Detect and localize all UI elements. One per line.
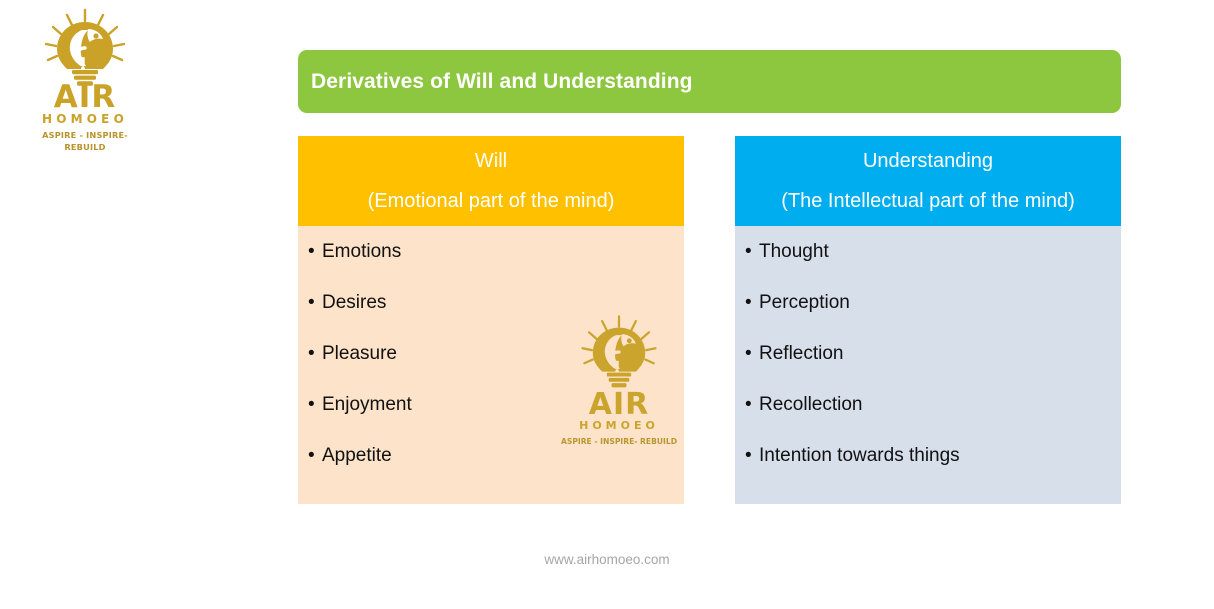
page-title: Derivatives of Will and Understanding: [298, 70, 693, 94]
list-item: • Appetite: [308, 445, 684, 496]
column-will-subheading: (Emotional part of the mind): [368, 188, 615, 215]
list-item: • Enjoyment: [308, 394, 684, 445]
list-item: • Recollection: [745, 394, 1121, 445]
list-item-label: Intention towards things: [759, 445, 960, 467]
list-item: • Intention towards things: [745, 445, 1121, 496]
bullet-icon: •: [308, 344, 322, 363]
column-will-heading: Will: [475, 148, 507, 175]
list-item: • Perception: [745, 292, 1121, 343]
column-will-body: AIR HOMOEO ASPIRE - INSPIRE- REBUILD • E…: [298, 226, 684, 504]
bullet-icon: •: [745, 242, 759, 261]
brand-tagline: ASPIRE - INSPIRE- REBUILD: [22, 129, 148, 153]
bullet-icon: •: [308, 242, 322, 261]
lightbulb-face-icon: [22, 8, 148, 88]
brand-name: AIR: [22, 84, 148, 110]
column-will: Will (Emotional part of the mind): [298, 136, 684, 504]
column-understanding-subheading: (The Intellectual part of the mind): [781, 188, 1074, 215]
column-will-header: Will (Emotional part of the mind): [298, 136, 684, 226]
list-item-label: Appetite: [322, 445, 392, 467]
footer-url[interactable]: www.airhomoeo.com: [0, 552, 1214, 567]
list-item: • Emotions: [308, 241, 684, 292]
bullet-icon: •: [308, 293, 322, 312]
bullet-icon: •: [745, 293, 759, 312]
comparison-columns: Will (Emotional part of the mind): [298, 136, 1121, 504]
column-understanding-heading: Understanding: [863, 148, 993, 175]
bullet-icon: •: [308, 446, 322, 465]
list-item: • Pleasure: [308, 343, 684, 394]
list-item-label: Perception: [759, 292, 850, 314]
list-item-label: Enjoyment: [322, 394, 412, 416]
list-item-label: Recollection: [759, 394, 863, 416]
brand-subname: HOMOEO: [22, 111, 148, 127]
list-item: • Reflection: [745, 343, 1121, 394]
bullet-icon: •: [745, 395, 759, 414]
list-item-label: Desires: [322, 292, 386, 314]
bullet-icon: •: [308, 395, 322, 414]
list-item-label: Reflection: [759, 343, 844, 365]
column-understanding-header: Understanding (The Intellectual part of …: [735, 136, 1121, 226]
column-understanding: Understanding (The Intellectual part of …: [735, 136, 1121, 504]
list-item-label: Emotions: [322, 241, 401, 263]
column-understanding-body: • Thought • Perception • Reflection • Re…: [735, 226, 1121, 504]
list-item-label: Pleasure: [322, 343, 397, 365]
title-banner: Derivatives of Will and Understanding: [298, 50, 1121, 113]
list-item-label: Thought: [759, 241, 829, 263]
bullet-icon: •: [745, 344, 759, 363]
bullet-icon: •: [745, 446, 759, 465]
brand-logo: AIR HOMOEO ASPIRE - INSPIRE- REBUILD: [22, 8, 148, 132]
list-item: • Thought: [745, 241, 1121, 292]
list-item: • Desires: [308, 292, 684, 343]
